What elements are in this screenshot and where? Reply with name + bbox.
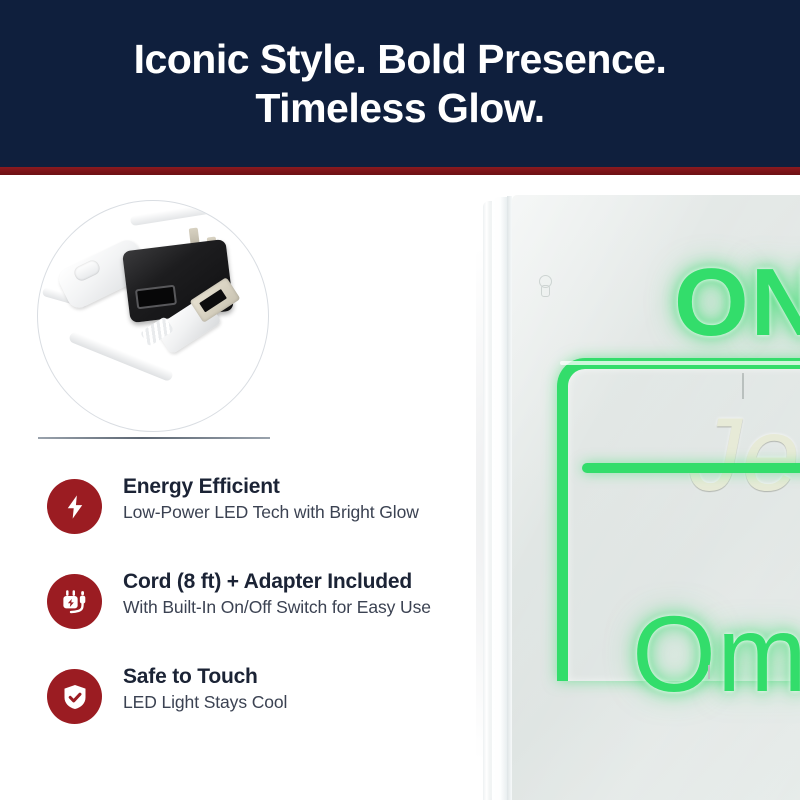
keyhole-mount-icon (538, 275, 551, 296)
feature-title: Energy Efficient (123, 473, 473, 500)
feature-row-energy-efficient: Energy Efficient Low-Power LED Tech with… (0, 471, 470, 566)
feature-text-safe-to-touch: Safe to Touch LED Light Stays Cool (123, 663, 473, 714)
shield-check-icon (47, 669, 102, 724)
header-headline-line-2: Timeless Glow. (255, 84, 544, 133)
header-headline-line-1: Iconic Style. Bold Presence. (134, 35, 667, 84)
cord-segment-top (130, 202, 222, 226)
acrylic-edge-highlight (492, 197, 507, 800)
feature-row-safe-to-touch: Safe to Touch LED Light Stays Cool (0, 661, 470, 756)
feature-row-cord-adapter: Cord (8 ft) + Adapter Included With Buil… (0, 566, 470, 661)
feature-text-cord-adapter: Cord (8 ft) + Adapter Included With Buil… (123, 568, 473, 619)
acrylic-edge-outer (483, 201, 492, 800)
neon-frame-core-highlight (560, 361, 800, 365)
neon-text-bottom: Om (632, 600, 800, 708)
neon-text-middle-unlit: Je (690, 403, 800, 507)
marketing-feature-panel: Iconic Style. Bold Presence. Timeless Gl… (0, 0, 800, 800)
section-divider (38, 437, 270, 439)
header-banner: Iconic Style. Bold Presence. Timeless Gl… (0, 0, 800, 167)
accessory-product-photo (37, 200, 269, 432)
feature-title: Cord (8 ft) + Adapter Included (123, 568, 473, 595)
acrylic-panel-face: ONL Je Om (512, 195, 800, 800)
neon-tube-wire (708, 665, 710, 679)
neon-border-frame-lower (582, 463, 800, 473)
feature-title: Safe to Touch (123, 663, 473, 690)
neon-text-top: ONL (674, 255, 800, 351)
accessory-photo-inner (38, 201, 268, 431)
header-accent-stripe (0, 167, 800, 175)
feature-subtitle: LED Light Stays Cool (123, 690, 473, 714)
left-content-column: Energy Efficient Low-Power LED Tech with… (0, 175, 470, 800)
neon-sign-photo: ONL Je Om (470, 175, 800, 800)
feature-text-energy-efficient: Energy Efficient Low-Power LED Tech with… (123, 473, 473, 524)
feature-subtitle: Low-Power LED Tech with Bright Glow (123, 500, 473, 524)
lightning-bolt-icon (47, 479, 102, 534)
power-plug-icon (47, 574, 102, 629)
feature-list: Energy Efficient Low-Power LED Tech with… (0, 471, 470, 756)
feature-subtitle: With Built-In On/Off Switch for Easy Use (123, 595, 473, 619)
